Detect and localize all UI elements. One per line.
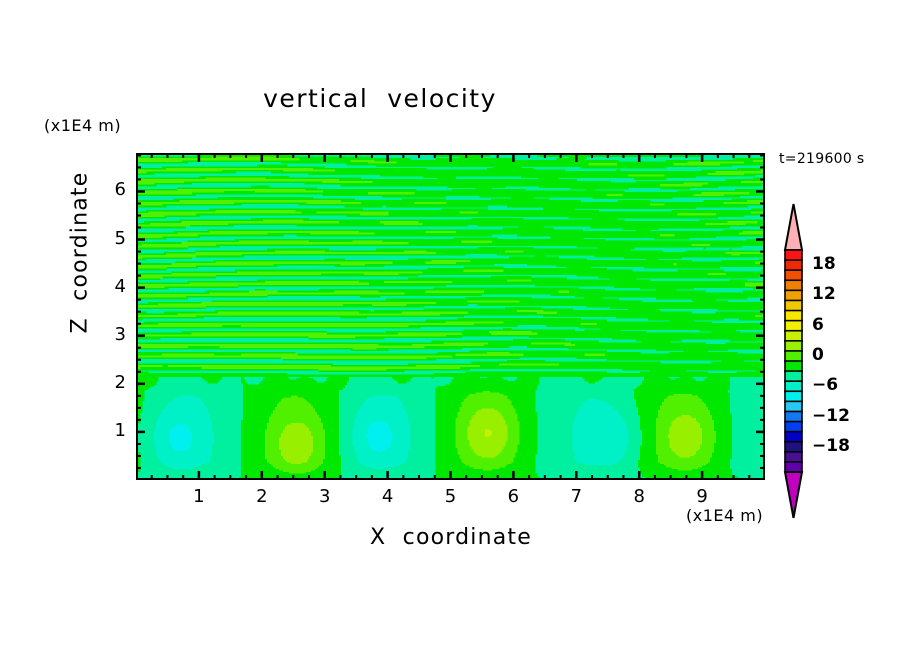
colorbar-tick-label: −18: [812, 436, 850, 456]
x-tick-label: 4: [373, 486, 403, 507]
x-tick-label: 3: [310, 486, 340, 507]
x-tick-label: 1: [184, 486, 214, 507]
x-tick-label: 6: [498, 486, 528, 507]
z-tick-label: 4: [96, 276, 126, 297]
x-axis-unit-label: (x1E4 m): [686, 506, 763, 525]
x-tick-label: 9: [687, 486, 717, 507]
x-axis-title: X coordinate: [136, 525, 766, 550]
contour-field: [138, 155, 763, 478]
z-tick-label: 1: [96, 420, 126, 441]
colorbar-tick-label: −12: [812, 406, 850, 426]
z-tick-label: 6: [96, 179, 126, 200]
colorbar-tick-label: 6: [812, 315, 824, 335]
z-tick-label: 5: [96, 228, 126, 249]
colorbar-tick-label: −6: [812, 375, 838, 395]
colorbar-tick-label: 0: [812, 345, 824, 365]
x-tick-label: 8: [624, 486, 654, 507]
z-axis-title: Z coordinate: [68, 153, 93, 353]
x-tick-label: 5: [436, 486, 466, 507]
contour-plot-area: [136, 153, 765, 480]
colorbar-tick-label: 12: [812, 284, 836, 304]
timestamp-annotation: t=219600 s: [779, 151, 864, 167]
z-tick-label: 3: [96, 324, 126, 345]
colorbar-tick-label: 18: [812, 254, 836, 274]
x-tick-label: 7: [561, 486, 591, 507]
z-tick-label: 2: [96, 372, 126, 393]
page-title: vertical velocity: [0, 84, 760, 113]
colorbar: [775, 203, 815, 519]
z-axis-unit-label: (x1E4 m): [44, 116, 121, 135]
x-tick-label: 2: [247, 486, 277, 507]
